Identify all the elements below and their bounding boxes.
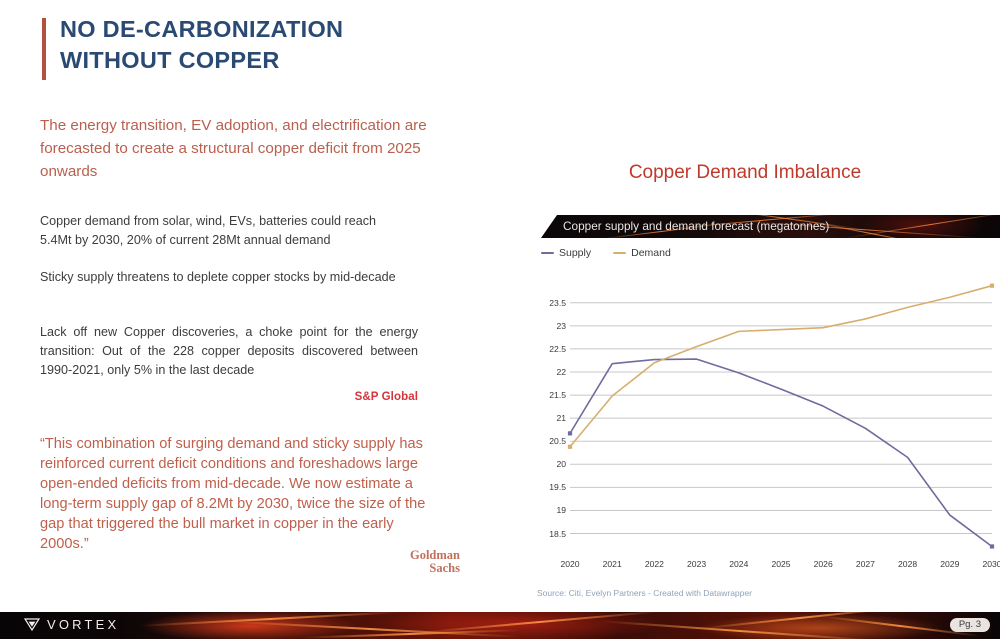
title-line-2: WITHOUT COPPER (60, 45, 512, 76)
y-axis-tick: 21.5 (534, 390, 566, 400)
x-axis-tick: 2029 (940, 559, 959, 569)
chart-title: Copper Demand Imbalance (530, 162, 960, 184)
vortex-triangle-icon (24, 617, 40, 632)
title-accent-bar (42, 18, 46, 80)
legend-label-demand: Demand (631, 247, 671, 259)
x-axis-tick: 2024 (729, 559, 748, 569)
slide-footer: VORTEX Pg. 3 (0, 612, 1000, 639)
brand-name: VORTEX (47, 617, 119, 632)
title-line-1: NO DE-CARBONIZATION (60, 14, 512, 45)
y-axis-tick: 19 (534, 505, 566, 515)
y-axis-tick: 23 (534, 321, 566, 331)
body-paragraph-2: Sticky supply threatens to deplete coppe… (40, 268, 405, 287)
chart-legend: Supply Demand (541, 247, 671, 259)
legend-swatch-supply (541, 252, 554, 254)
legend-label-supply: Supply (559, 247, 591, 259)
y-axis-tick: 20.5 (534, 436, 566, 446)
y-axis-tick: 23.5 (534, 298, 566, 308)
y-axis-tick: 19.5 (534, 482, 566, 492)
page-number-badge: Pg. 3 (950, 618, 990, 632)
body-paragraph-1: Copper demand from solar, wind, EVs, bat… (40, 212, 405, 250)
lead-statement: The energy transition, EV adoption, and … (40, 114, 465, 183)
x-axis-tick: 2028 (898, 559, 917, 569)
x-axis-tick: 2021 (603, 559, 622, 569)
x-axis-tick: 2027 (856, 559, 875, 569)
x-axis-tick: 2023 (687, 559, 706, 569)
y-axis-tick: 18.5 (534, 529, 566, 539)
x-axis-tick: 2025 (771, 559, 790, 569)
y-axis-tick: 20 (534, 459, 566, 469)
y-axis-tick: 21 (534, 413, 566, 423)
x-axis-tick: 2026 (814, 559, 833, 569)
y-axis-tick: 22 (534, 367, 566, 377)
legend-swatch-demand (613, 252, 626, 254)
x-axis-tick: 2020 (560, 559, 579, 569)
slide-root: NO DE-CARBONIZATION WITHOUT COPPER The e… (0, 0, 1000, 639)
chart-banner: Copper supply and demand forecast (megat… (541, 215, 1000, 238)
attribution-sp-global: S&P Global (40, 391, 418, 403)
attribution-gs-line-2: Sachs (300, 562, 460, 575)
brand-logo: VORTEX (24, 617, 119, 632)
chart-source-note: Source: Citi, Evelyn Partners - Created … (537, 588, 752, 598)
legend-item-supply: Supply (541, 247, 591, 259)
x-axis-tick: 2022 (645, 559, 664, 569)
pull-quote: “This combination of surging demand and … (40, 434, 438, 554)
body-paragraph-3: Lack off new Copper discoveries, a choke… (40, 323, 418, 380)
attribution-gs-line-1: Goldman (300, 549, 460, 562)
chart-plot-area: 18.51919.52020.52121.52222.52323.5 20202… (530, 262, 1000, 572)
page-title: NO DE-CARBONIZATION WITHOUT COPPER (42, 14, 512, 76)
legend-item-demand: Demand (613, 247, 671, 259)
attribution-goldman-sachs: Goldman Sachs (300, 549, 460, 574)
y-axis-tick: 22.5 (534, 344, 566, 354)
chart-svg (530, 262, 1000, 572)
chart-banner-label: Copper supply and demand forecast (megat… (563, 219, 829, 233)
x-axis-tick: 2030 (982, 559, 1000, 569)
